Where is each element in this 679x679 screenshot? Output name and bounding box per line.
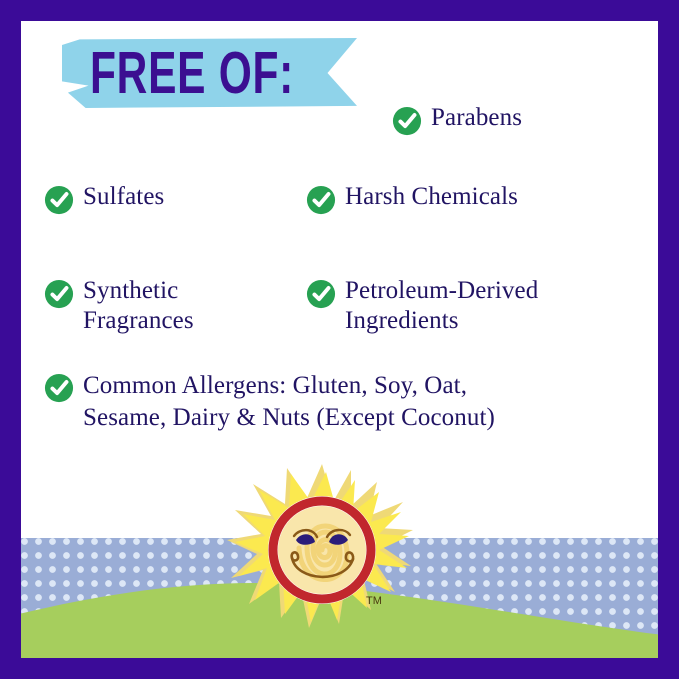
trademark-mark: TM [366, 595, 382, 607]
green-check-circle-icon [44, 373, 74, 403]
list-item-label: Harsh Chemicals [345, 182, 518, 212]
product-infographic-card: FREE OF: Parabens Sulfates Harsh Chemica… [0, 0, 679, 679]
list-item-sulfates: Sulfates [44, 182, 164, 215]
green-check-circle-icon [306, 279, 336, 309]
list-item-parabens: Parabens [392, 103, 522, 136]
green-check-circle-icon [44, 279, 74, 309]
list-item-label: Common Allergens: Gluten, Soy, Oat, Sesa… [83, 370, 495, 434]
banner-title: FREE OF: [90, 40, 294, 106]
list-item-synthetic-fragrances: Synthetic Fragrances [44, 276, 194, 336]
list-item-label: Petroleum-Derived Ingredients [345, 276, 538, 336]
list-item-label: Synthetic Fragrances [83, 276, 194, 336]
list-item-common-allergens: Common Allergens: Gluten, Soy, Oat, Sesa… [44, 370, 495, 434]
card-inner-area: FREE OF: Parabens Sulfates Harsh Chemica… [21, 21, 658, 658]
list-item-label: Sulfates [83, 182, 164, 212]
green-check-circle-icon [392, 106, 422, 136]
green-check-circle-icon [44, 185, 74, 215]
green-check-circle-icon [306, 185, 336, 215]
list-item-harsh-chemicals: Harsh Chemicals [306, 182, 518, 215]
list-item-petroleum-derived-ingredients: Petroleum-Derived Ingredients [306, 276, 538, 336]
free-of-banner: FREE OF: [62, 38, 357, 108]
list-item-label: Parabens [431, 103, 522, 133]
smiling-sun-logo [227, 458, 417, 633]
